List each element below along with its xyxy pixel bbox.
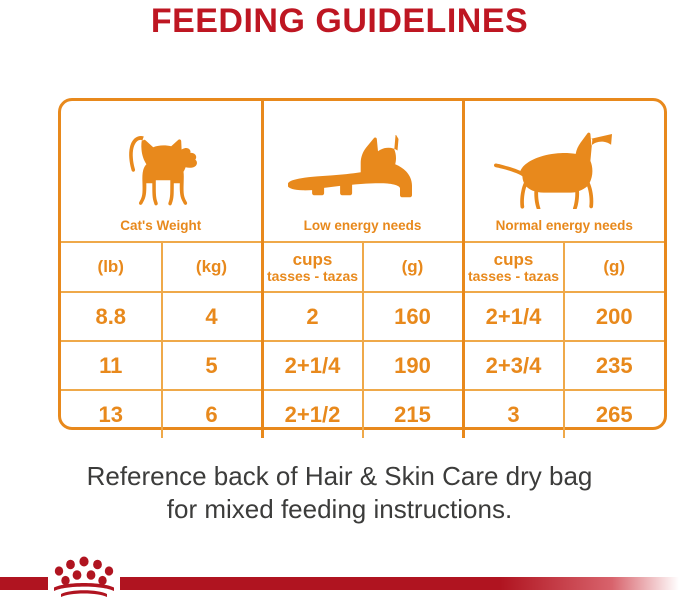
royal-canin-crown-icon bbox=[48, 556, 120, 598]
cell-low-cups: 2+1/2 bbox=[262, 390, 363, 438]
table-unit-header-row: (lb) (kg) cups tasses - tazas (g bbox=[61, 242, 664, 292]
page-title: FEEDING GUIDELINES bbox=[0, 2, 679, 41]
unit-header-low-cups-sub: tasses - tazas bbox=[264, 269, 362, 284]
unit-header-normal-g-main: (g) bbox=[603, 257, 625, 276]
unit-header-lb-main: (lb) bbox=[98, 257, 124, 276]
cell-normal-cups: 2+3/4 bbox=[463, 341, 564, 390]
cell-low-g: 215 bbox=[363, 390, 464, 438]
unit-header-kg-main: (kg) bbox=[196, 257, 227, 276]
unit-header-low-cups-main: cups bbox=[293, 250, 333, 269]
unit-header-kg: (kg) bbox=[162, 242, 263, 292]
header-label-normal-energy: Normal energy needs bbox=[496, 218, 633, 233]
unit-header-normal-g: (g) bbox=[564, 242, 665, 292]
cat-walking-icon bbox=[494, 131, 634, 214]
cell-kg: 4 bbox=[162, 292, 263, 341]
cell-kg: 6 bbox=[162, 390, 263, 438]
cell-normal-g: 265 bbox=[564, 390, 665, 438]
cell-lb: 8.8 bbox=[61, 292, 162, 341]
brand-bar-right-segment bbox=[120, 577, 679, 590]
table-row: 11 5 2+1/4 190 2+3/4 235 bbox=[61, 341, 664, 390]
feeding-guidelines-table: Cat's Weight Low energy needs bbox=[58, 98, 667, 430]
table-row: 13 6 2+1/2 215 3 265 bbox=[61, 390, 664, 438]
cell-normal-cups: 3 bbox=[463, 390, 564, 438]
cell-low-cups: 2 bbox=[262, 292, 363, 341]
unit-header-normal-cups-sub: tasses - tazas bbox=[465, 269, 563, 284]
cell-lb: 13 bbox=[61, 390, 162, 438]
cell-low-cups: 2+1/4 bbox=[262, 341, 363, 390]
cell-normal-g: 200 bbox=[564, 292, 665, 341]
cell-kg: 5 bbox=[162, 341, 263, 390]
cat-standing-icon bbox=[118, 131, 204, 214]
header-label-low-energy: Low energy needs bbox=[304, 218, 422, 233]
unit-header-low-cups: cups tasses - tazas bbox=[262, 242, 363, 292]
caption-line-2: for mixed feeding instructions. bbox=[0, 493, 679, 526]
cell-normal-cups: 2+1/4 bbox=[463, 292, 564, 341]
brand-bar-left-segment bbox=[0, 577, 48, 590]
unit-header-normal-cups: cups tasses - tazas bbox=[463, 242, 564, 292]
header-cell-cats-weight: Cat's Weight bbox=[61, 101, 262, 242]
unit-header-low-g-main: (g) bbox=[402, 257, 424, 276]
table-icon-header-row: Cat's Weight Low energy needs bbox=[61, 101, 664, 242]
cell-lb: 11 bbox=[61, 341, 162, 390]
unit-header-lb: (lb) bbox=[61, 242, 162, 292]
cat-lying-icon bbox=[288, 135, 438, 214]
table-row: 8.8 4 2 160 2+1/4 200 bbox=[61, 292, 664, 341]
caption: Reference back of Hair & Skin Care dry b… bbox=[0, 460, 679, 527]
cell-normal-g: 235 bbox=[564, 341, 665, 390]
header-label-cats-weight: Cat's Weight bbox=[120, 218, 201, 233]
header-cell-low-energy: Low energy needs bbox=[262, 101, 463, 242]
unit-header-low-g: (g) bbox=[363, 242, 464, 292]
header-cell-normal-energy: Normal energy needs bbox=[463, 101, 664, 242]
cell-low-g: 160 bbox=[363, 292, 464, 341]
cell-low-g: 190 bbox=[363, 341, 464, 390]
caption-line-1: Reference back of Hair & Skin Care dry b… bbox=[0, 460, 679, 493]
unit-header-normal-cups-main: cups bbox=[494, 250, 534, 269]
